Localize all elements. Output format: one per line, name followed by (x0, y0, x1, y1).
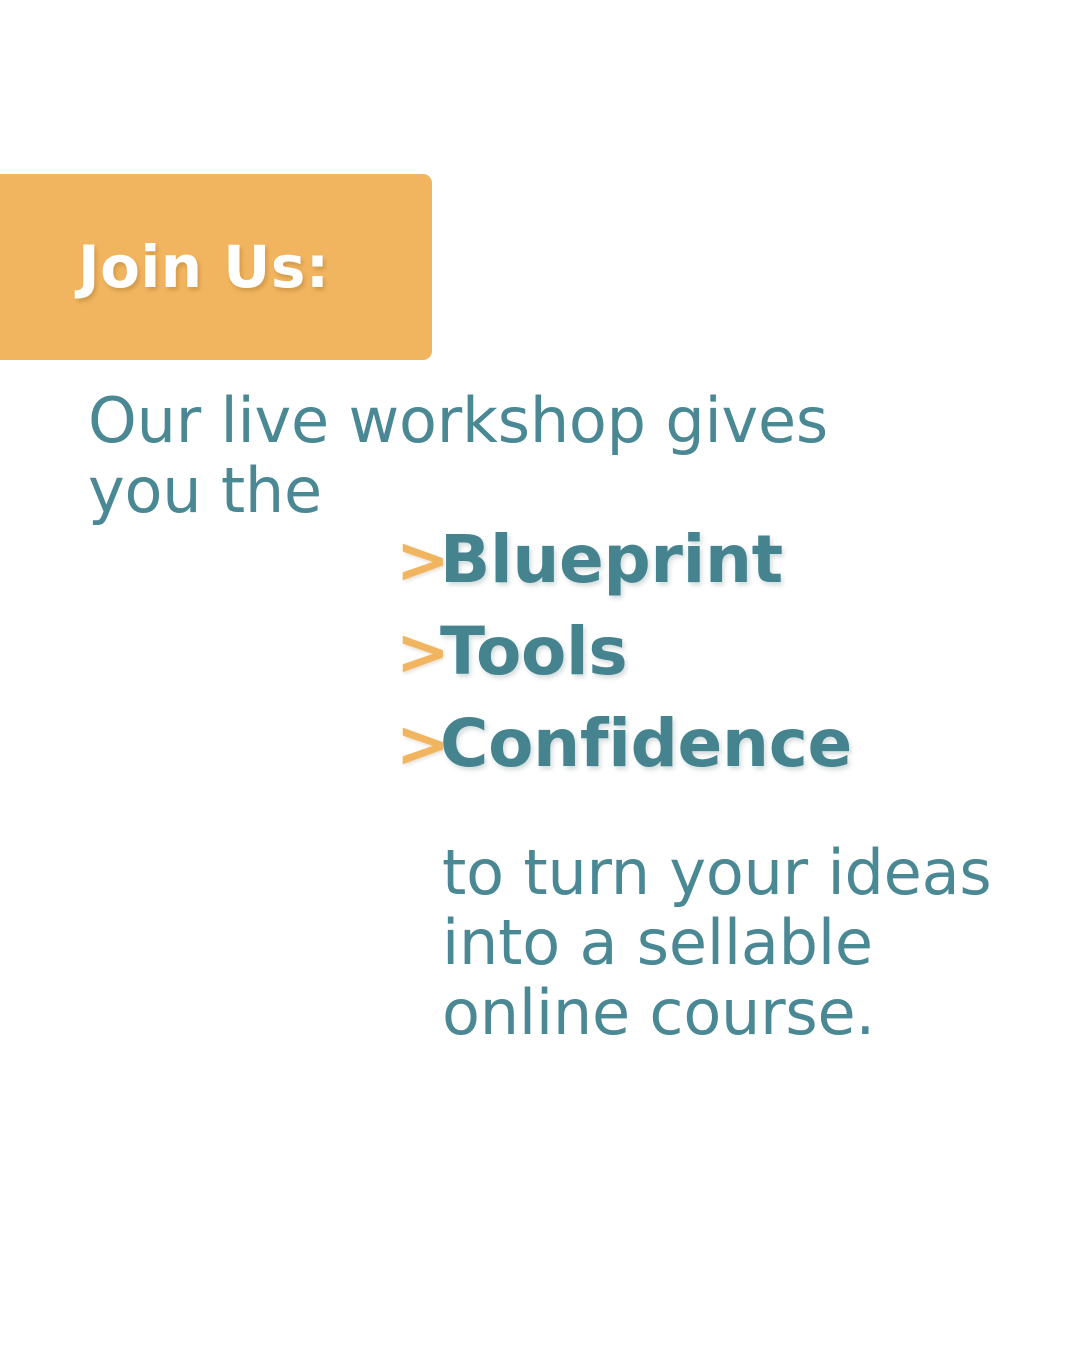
chevron-right-icon: > (396, 621, 440, 685)
promo-graphic-canvas: { "banner": { "title": "Join Us:", "back… (0, 0, 1080, 1350)
benefits-list: > Blueprint > Tools > Confidence (396, 527, 1056, 803)
join-us-banner: Join Us: (0, 174, 432, 360)
list-item: > Blueprint (396, 527, 1056, 619)
list-item-label: Tools (440, 619, 627, 685)
list-item: > Tools (396, 619, 1056, 711)
intro-paragraph: Our live workshop gives you the (88, 386, 908, 526)
list-item: > Confidence (396, 711, 1056, 803)
list-item-label: Confidence (440, 711, 852, 777)
list-item-label: Blueprint (440, 527, 783, 593)
banner-title: Join Us: (78, 238, 330, 296)
outro-paragraph: to turn your ideas into a sellable onlin… (442, 838, 1042, 1048)
chevron-right-icon: > (396, 529, 440, 593)
chevron-right-icon: > (396, 713, 440, 777)
